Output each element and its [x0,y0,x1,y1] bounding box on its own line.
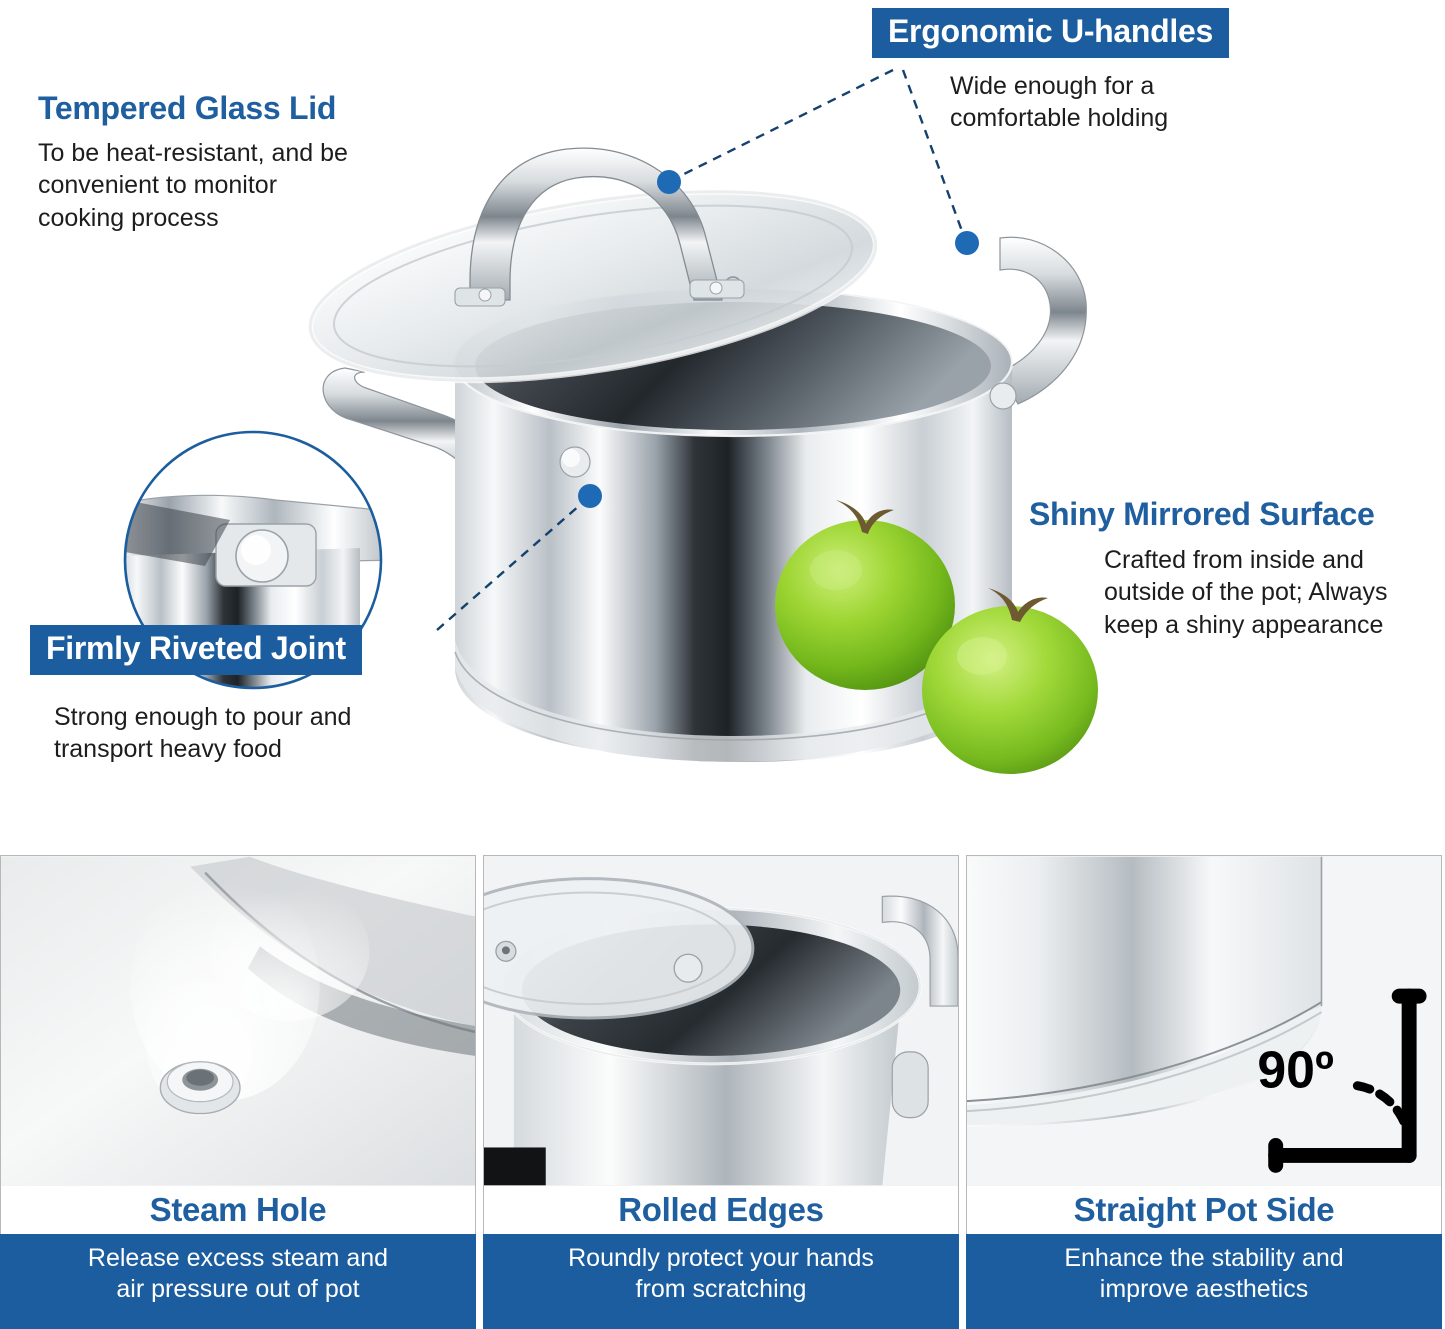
desc-line: Wide enough for a [950,70,1229,103]
panel-steam-hole: Steam Hole Release excess steam and air … [0,855,476,1329]
desc-line: Release excess steam and [10,1243,466,1274]
callout-dot-rivet [578,484,602,508]
desc-line: Enhance the stability and [976,1243,1432,1274]
panel-title: Rolled Edges [483,1186,959,1234]
rolled-edges-art [484,856,958,1186]
rivet-right [990,383,1016,409]
callout-description: Wide enough for a comfortable holding [950,70,1229,135]
desc-line: Roundly protect your hands [493,1243,949,1274]
straight-side-art: 90º [967,856,1441,1186]
callout-tempered-glass-lid: Tempered Glass Lid To be heat-resistant,… [38,92,348,234]
callout-firmly-riveted-joint: Firmly Riveted Joint Strong enough to po… [30,625,362,766]
panel-title: Straight Pot Side [966,1186,1442,1234]
lid-knob-rivet [674,954,702,982]
desc-line: air pressure out of pot [10,1274,466,1305]
callout-dot-pot-handle [955,231,979,255]
panel-rolled-edges: Rolled Edges Roundly protect your hands … [483,855,959,1329]
pot-handle-right [1000,237,1086,404]
desc-line: convenient to monitor [38,169,348,202]
desc-line: Crafted from inside and [1104,544,1388,577]
desc-line: comfortable holding [950,102,1229,135]
callout-title-banner: Firmly Riveted Joint [30,625,362,675]
panel-description: Release excess steam and air pressure ou… [0,1234,476,1329]
panel-photo-rolled-edges [483,855,959,1186]
callout-shiny-mirrored-surface: Shiny Mirrored Surface Crafted from insi… [1029,498,1388,641]
steam-vent-grommet [160,1062,240,1114]
desc-line: Strong enough to pour and [54,701,362,734]
steam-hole-art [1,856,475,1186]
panel-description: Roundly protect your hands from scratchi… [483,1234,959,1329]
callout-description: Strong enough to pour and transport heav… [54,701,362,766]
desc-line: from scratching [493,1274,949,1305]
panel-description: Enhance the stability and improve aesthe… [966,1234,1442,1329]
desc-line: cooking process [38,202,348,235]
callout-description: To be heat-resistant, and be convenient … [38,137,348,235]
callout-title: Tempered Glass Lid [38,92,348,126]
desc-line: transport heavy food [54,733,362,766]
panel-photo-straight-pot-side: 90º [966,855,1442,1186]
desc-line: keep a shiny appearance [1104,609,1388,642]
desc-line: To be heat-resistant, and be [38,137,348,170]
angle-label: 90º [1257,1041,1334,1099]
desc-line: outside of the pot; Always [1104,576,1388,609]
callout-dot-lid-handle [657,170,681,194]
callout-title-banner: Ergonomic U-handles [872,8,1229,58]
callout-title: Shiny Mirrored Surface [1029,498,1388,532]
panel-title: Steam Hole [0,1186,476,1234]
connector-handles-lid [672,70,893,180]
desc-line: improve aesthetics [976,1274,1432,1305]
infographic-root: Tempered Glass Lid To be heat-resistant,… [0,0,1445,1329]
callout-ergonomic-u-handles: Ergonomic U-handles Wide enough for a co… [872,8,1229,135]
panel-photo-steam-hole [0,855,476,1186]
panel-straight-pot-side: 90º Straight Pot Side Enhance the stabil… [966,855,1442,1329]
feature-panel-row: Steam Hole Release excess steam and air … [0,855,1445,1329]
callout-description: Crafted from inside and outside of the p… [1104,544,1388,642]
